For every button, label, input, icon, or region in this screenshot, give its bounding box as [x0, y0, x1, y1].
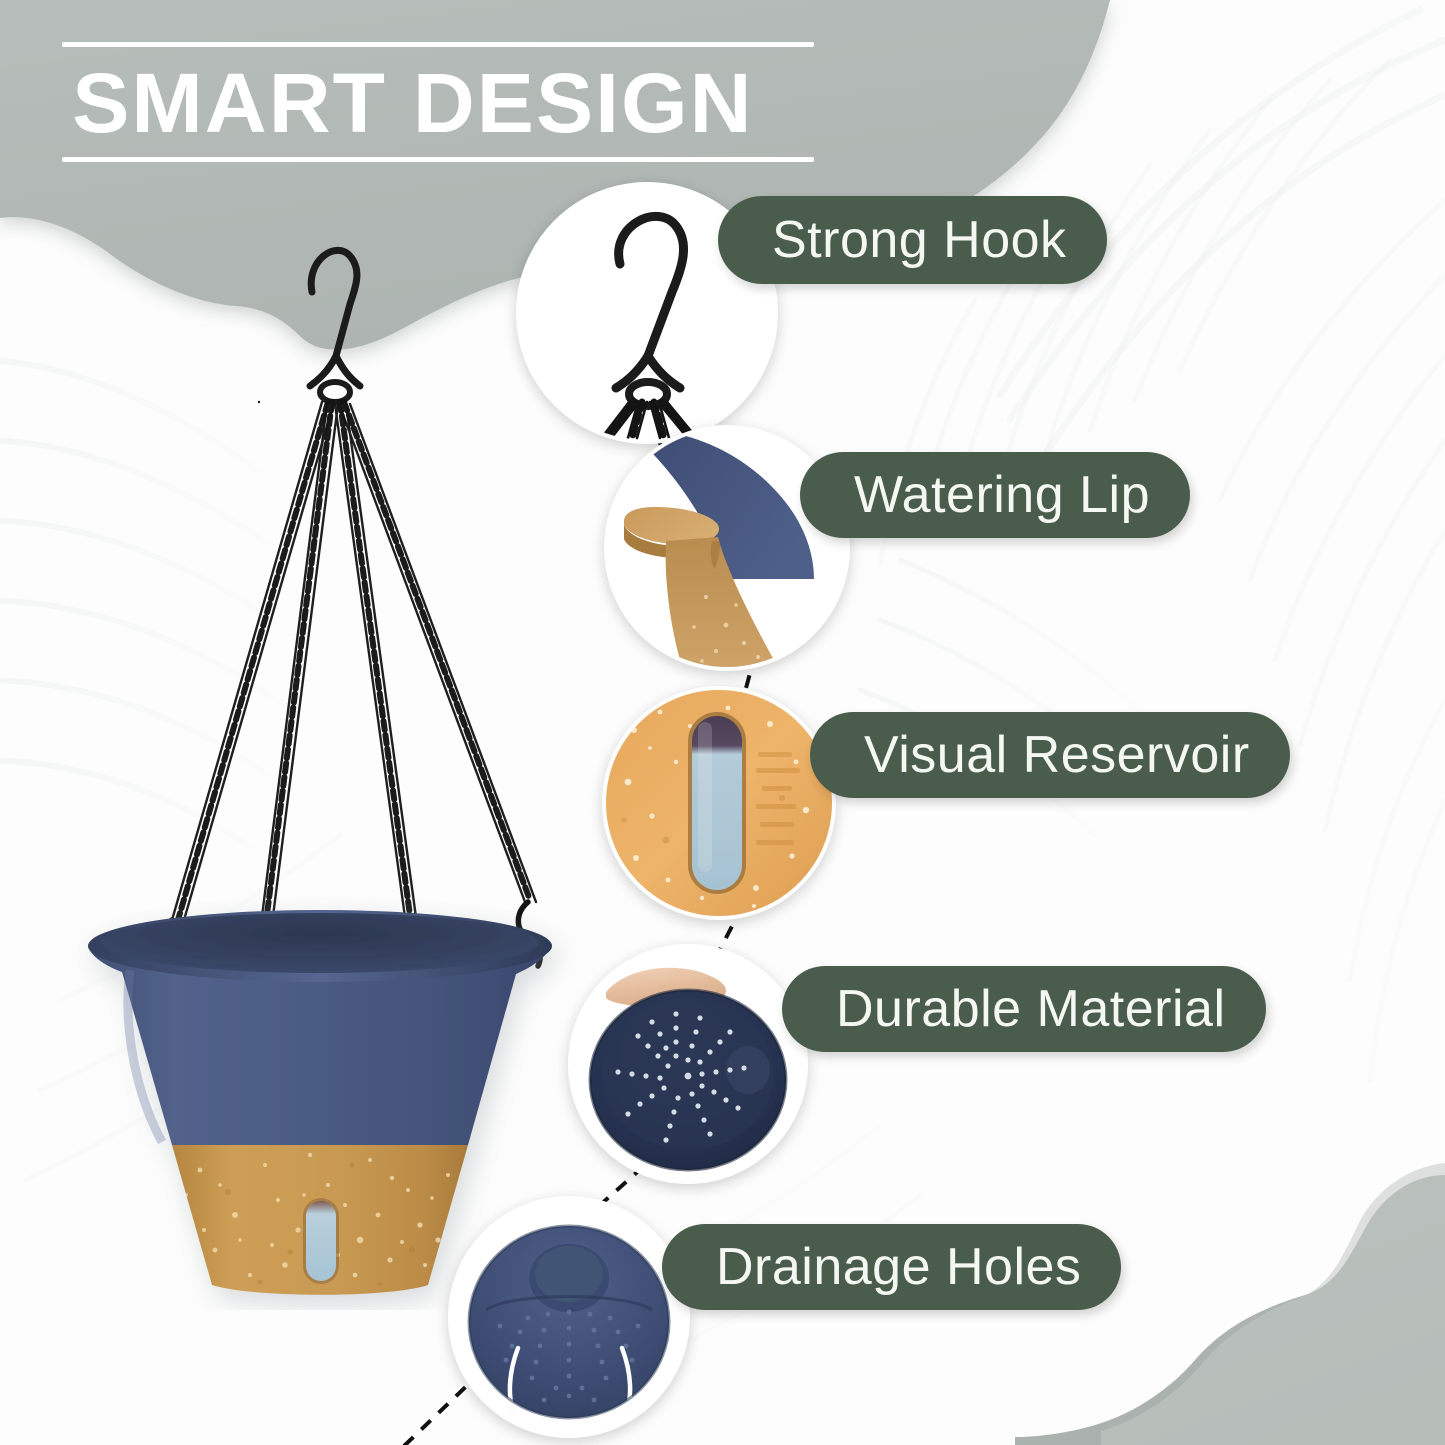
page-title: SMART DESIGN: [62, 47, 837, 157]
pill-visual-reservoir[interactable]: Visual Reservoir: [810, 712, 1290, 798]
hanging-planter-product: [60, 230, 580, 1310]
pot-cross-section-icon: [608, 429, 846, 667]
hand-pressing-pot-icon: [572, 948, 804, 1180]
title-rule-bottom: [62, 157, 814, 162]
bubble-watering-lip: [604, 425, 850, 671]
label-drainage-holes: Drainage Holes: [716, 1241, 1081, 1293]
pill-drainage-holes[interactable]: Drainage Holes: [662, 1224, 1121, 1310]
chain-group: [172, 402, 536, 932]
bubble-visual-reservoir: [602, 686, 836, 920]
label-watering-lip: Watering Lip: [854, 469, 1150, 521]
pill-watering-lip[interactable]: Watering Lip: [800, 452, 1190, 538]
bubble-drainage-holes: [448, 1196, 690, 1438]
label-durable-material: Durable Material: [836, 983, 1226, 1035]
label-visual-reservoir: Visual Reservoir: [864, 729, 1250, 781]
water-level-window: [303, 1198, 339, 1284]
pill-strong-hook[interactable]: Strong Hook: [718, 196, 1107, 284]
bubble-durable-material: [568, 944, 808, 1184]
label-strong-hook: Strong Hook: [772, 214, 1067, 266]
top-hook-icon: [310, 250, 360, 402]
infographic-canvas: SMART DESIGN: [0, 0, 1445, 1445]
water-gauge-icon: [606, 690, 832, 916]
pill-durable-material[interactable]: Durable Material: [782, 966, 1266, 1052]
perforated-base-icon: [452, 1200, 686, 1434]
page-title-block: SMART DESIGN: [62, 42, 822, 162]
